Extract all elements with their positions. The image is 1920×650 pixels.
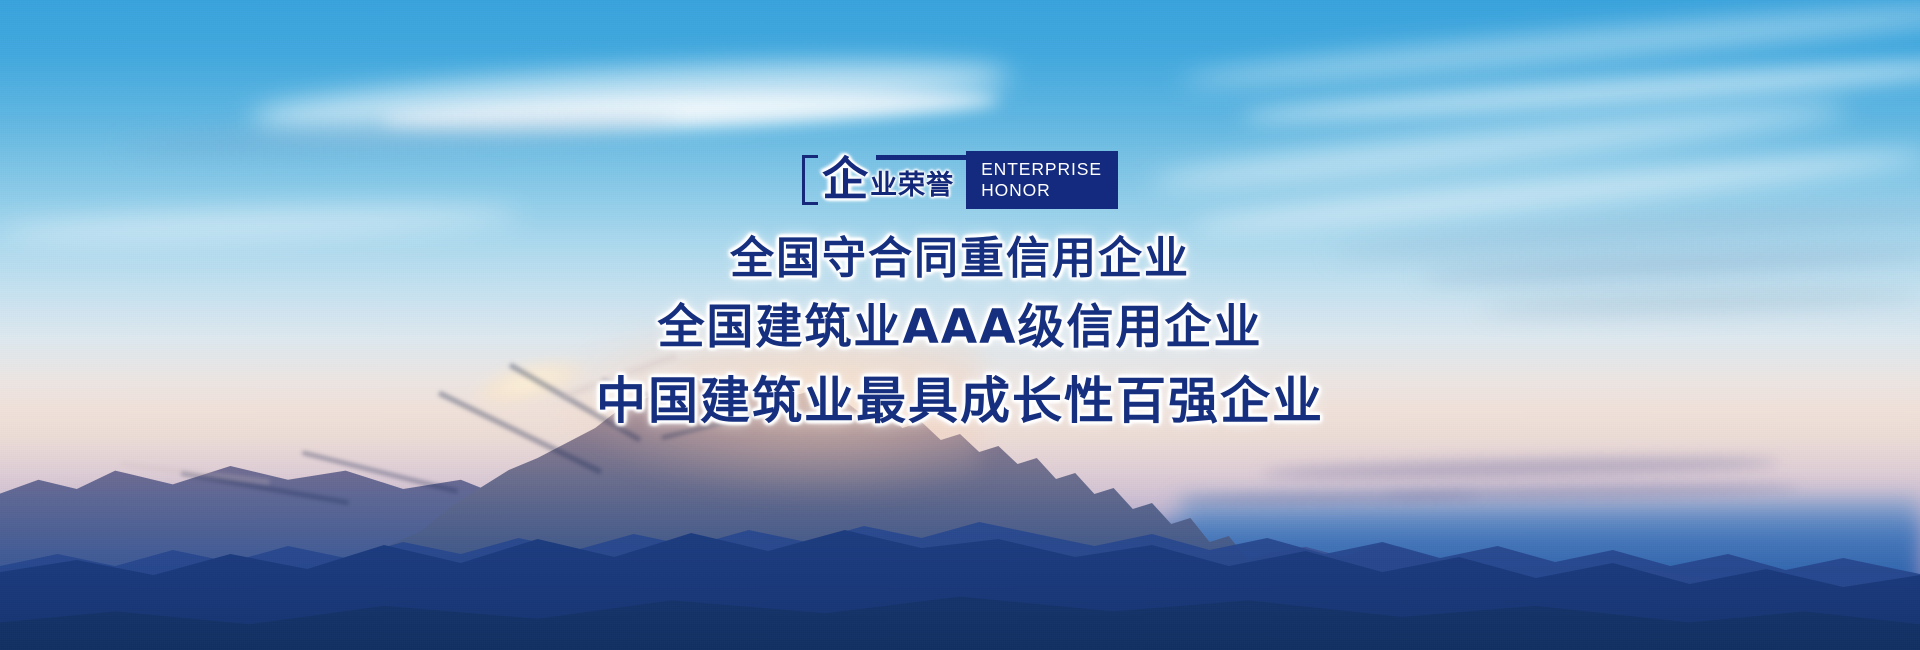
slogan-line-3: 中国建筑业最具成长性百强企业 <box>596 369 1324 433</box>
badge-cn-label: 业荣誉 <box>870 172 954 199</box>
slogan-line-1: 全国守合同重信用企业 <box>730 231 1190 287</box>
hero-banner: 企 业荣誉 ENTERPRISE HONOR 全国守合同重信用企业 全国建筑业A… <box>0 0 1920 650</box>
banner-content: 企 业荣誉 ENTERPRISE HONOR 全国守合同重信用企业 全国建筑业A… <box>0 0 1920 650</box>
badge-en-line1: ENTERPRISE <box>981 159 1102 180</box>
slogan-line-2: 全国建筑业AAA级信用企业 <box>657 298 1262 358</box>
badge-chinese-group: 企 业荣誉 <box>802 151 962 209</box>
left-bracket-icon <box>802 155 818 205</box>
slogan-list: 全国守合同重信用企业 全国建筑业AAA级信用企业 中国建筑业最具成长性百强企业 <box>596 231 1324 433</box>
enterprise-honor-badge: 企 业荣誉 ENTERPRISE HONOR <box>802 151 1118 209</box>
badge-en-line2: HONOR <box>981 180 1102 201</box>
badge-qi-character: 企 <box>822 156 868 202</box>
